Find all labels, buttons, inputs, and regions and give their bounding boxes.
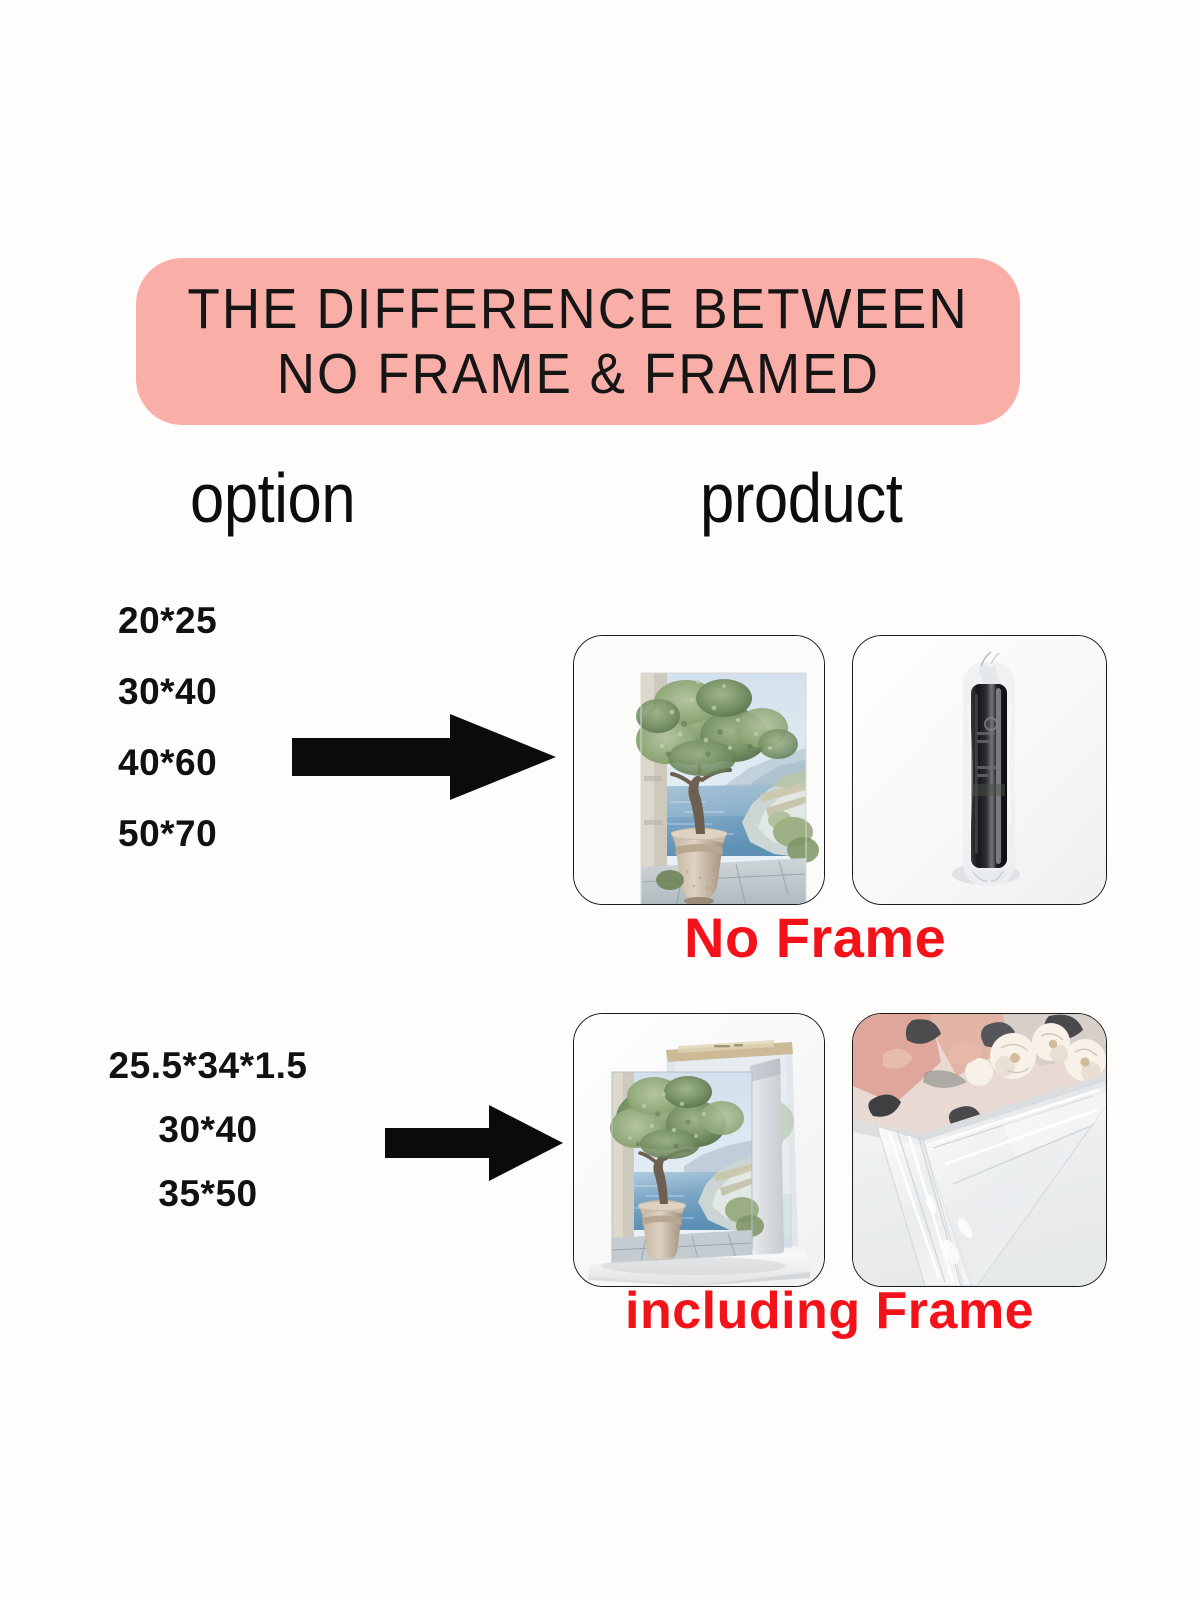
framed-canvas-image bbox=[574, 1014, 824, 1286]
title-line-1: THE DIFFERENCE BETWEEN bbox=[187, 277, 968, 342]
column-header-option: option bbox=[190, 463, 355, 533]
size-list-framed: 25.5*34*1.5 30*40 35*50 bbox=[58, 1045, 358, 1237]
size-option: 30*40 bbox=[58, 1109, 358, 1151]
product-card-rolled-poster bbox=[852, 635, 1107, 905]
size-list-no-frame: 20*25 30*40 40*60 50*70 bbox=[118, 600, 217, 884]
size-option: 20*25 bbox=[118, 600, 217, 642]
wrapped-canvas-corner-image bbox=[853, 1014, 1106, 1286]
product-card-framed-canvas bbox=[573, 1013, 825, 1287]
size-option: 25.5*34*1.5 bbox=[58, 1045, 358, 1087]
caption-no-frame: No Frame bbox=[684, 910, 946, 966]
caption-including-frame: including Frame bbox=[625, 1285, 1034, 1337]
product-card-poster bbox=[573, 635, 825, 905]
title-banner: THE DIFFERENCE BETWEEN NO FRAME & FRAMED bbox=[136, 258, 1020, 425]
size-option: 40*60 bbox=[118, 742, 217, 784]
product-card-wrapped-canvas bbox=[852, 1013, 1107, 1287]
size-option: 50*70 bbox=[118, 813, 217, 855]
title-line-2: NO FRAME & FRAMED bbox=[276, 342, 879, 407]
size-option: 30*40 bbox=[118, 671, 217, 713]
right-arrow-icon bbox=[292, 712, 558, 807]
right-arrow-icon bbox=[385, 1102, 565, 1189]
size-option: 35*50 bbox=[58, 1173, 358, 1215]
rolled-poster-image bbox=[853, 636, 1106, 904]
olive-tree-poster-image bbox=[574, 636, 824, 904]
column-header-product: product bbox=[700, 463, 902, 533]
